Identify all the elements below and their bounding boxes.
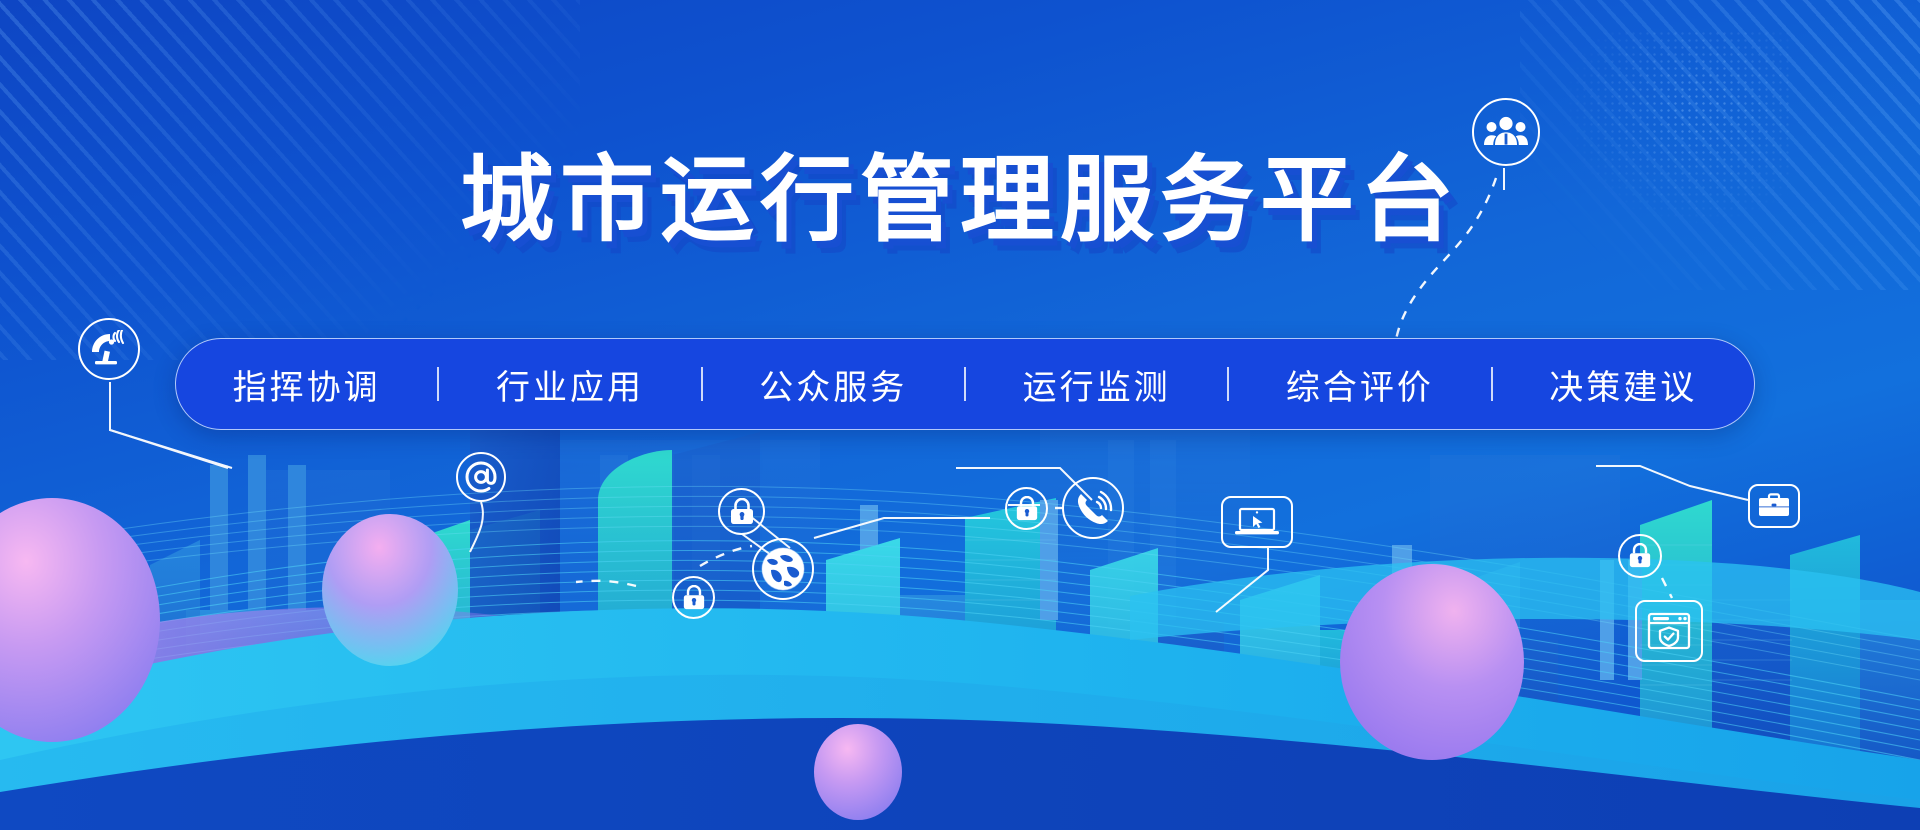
phone-call-icon[interactable] <box>1062 477 1124 539</box>
laptop-glyph <box>1233 506 1281 538</box>
laptop-icon[interactable] <box>1221 496 1293 548</box>
page-title: 城市运行管理服务平台 <box>460 152 1460 251</box>
at-sign-glyph <box>464 460 498 494</box>
people-group-icon[interactable] <box>1472 98 1540 166</box>
nav-item-0[interactable]: 指挥协调 <box>223 356 391 413</box>
page-title-container: 城市运行管理服务平台 <box>0 152 1920 251</box>
lock-icon[interactable] <box>718 488 765 535</box>
lock-glyph <box>682 585 706 611</box>
lock-glyph <box>1628 543 1652 569</box>
satellite-dish-icon[interactable] <box>78 318 140 380</box>
nav-item-4[interactable]: 综合评价 <box>1276 356 1444 413</box>
nav-separator <box>964 367 966 401</box>
globe-glyph <box>760 546 806 592</box>
nav-separator <box>701 367 703 401</box>
lock-icon[interactable] <box>1618 534 1662 578</box>
banner-stage: 城市运行管理服务平台 指挥协调 行业应用 公众服务 运行监测 综合评价 决策建议 <box>0 0 1920 830</box>
main-navigation-bar[interactable]: 指挥协调 行业应用 公众服务 运行监测 综合评价 决策建议 <box>175 338 1755 430</box>
satellite-dish-glyph <box>89 330 129 368</box>
nav-item-2[interactable]: 公众服务 <box>749 356 917 413</box>
globe-icon[interactable] <box>752 538 814 600</box>
briefcase-icon[interactable] <box>1748 484 1800 528</box>
phone-glyph <box>1073 488 1113 528</box>
nav-separator <box>1491 367 1493 401</box>
nav-separator <box>437 367 439 401</box>
lock-icon[interactable] <box>1005 487 1048 530</box>
briefcase-glyph <box>1757 492 1791 520</box>
browser-shield-icon[interactable] <box>1635 600 1703 662</box>
nav-item-3[interactable]: 运行监测 <box>1013 356 1181 413</box>
lock-glyph <box>1015 496 1039 522</box>
lock-icon[interactable] <box>672 576 715 619</box>
email-at-icon[interactable] <box>456 452 506 502</box>
lock-glyph <box>729 498 755 526</box>
nav-separator <box>1227 367 1229 401</box>
nav-item-5[interactable]: 决策建议 <box>1539 356 1707 413</box>
browser-shield-glyph <box>1647 611 1691 651</box>
people-group-glyph <box>1484 115 1528 149</box>
nav-item-1[interactable]: 行业应用 <box>486 356 654 413</box>
